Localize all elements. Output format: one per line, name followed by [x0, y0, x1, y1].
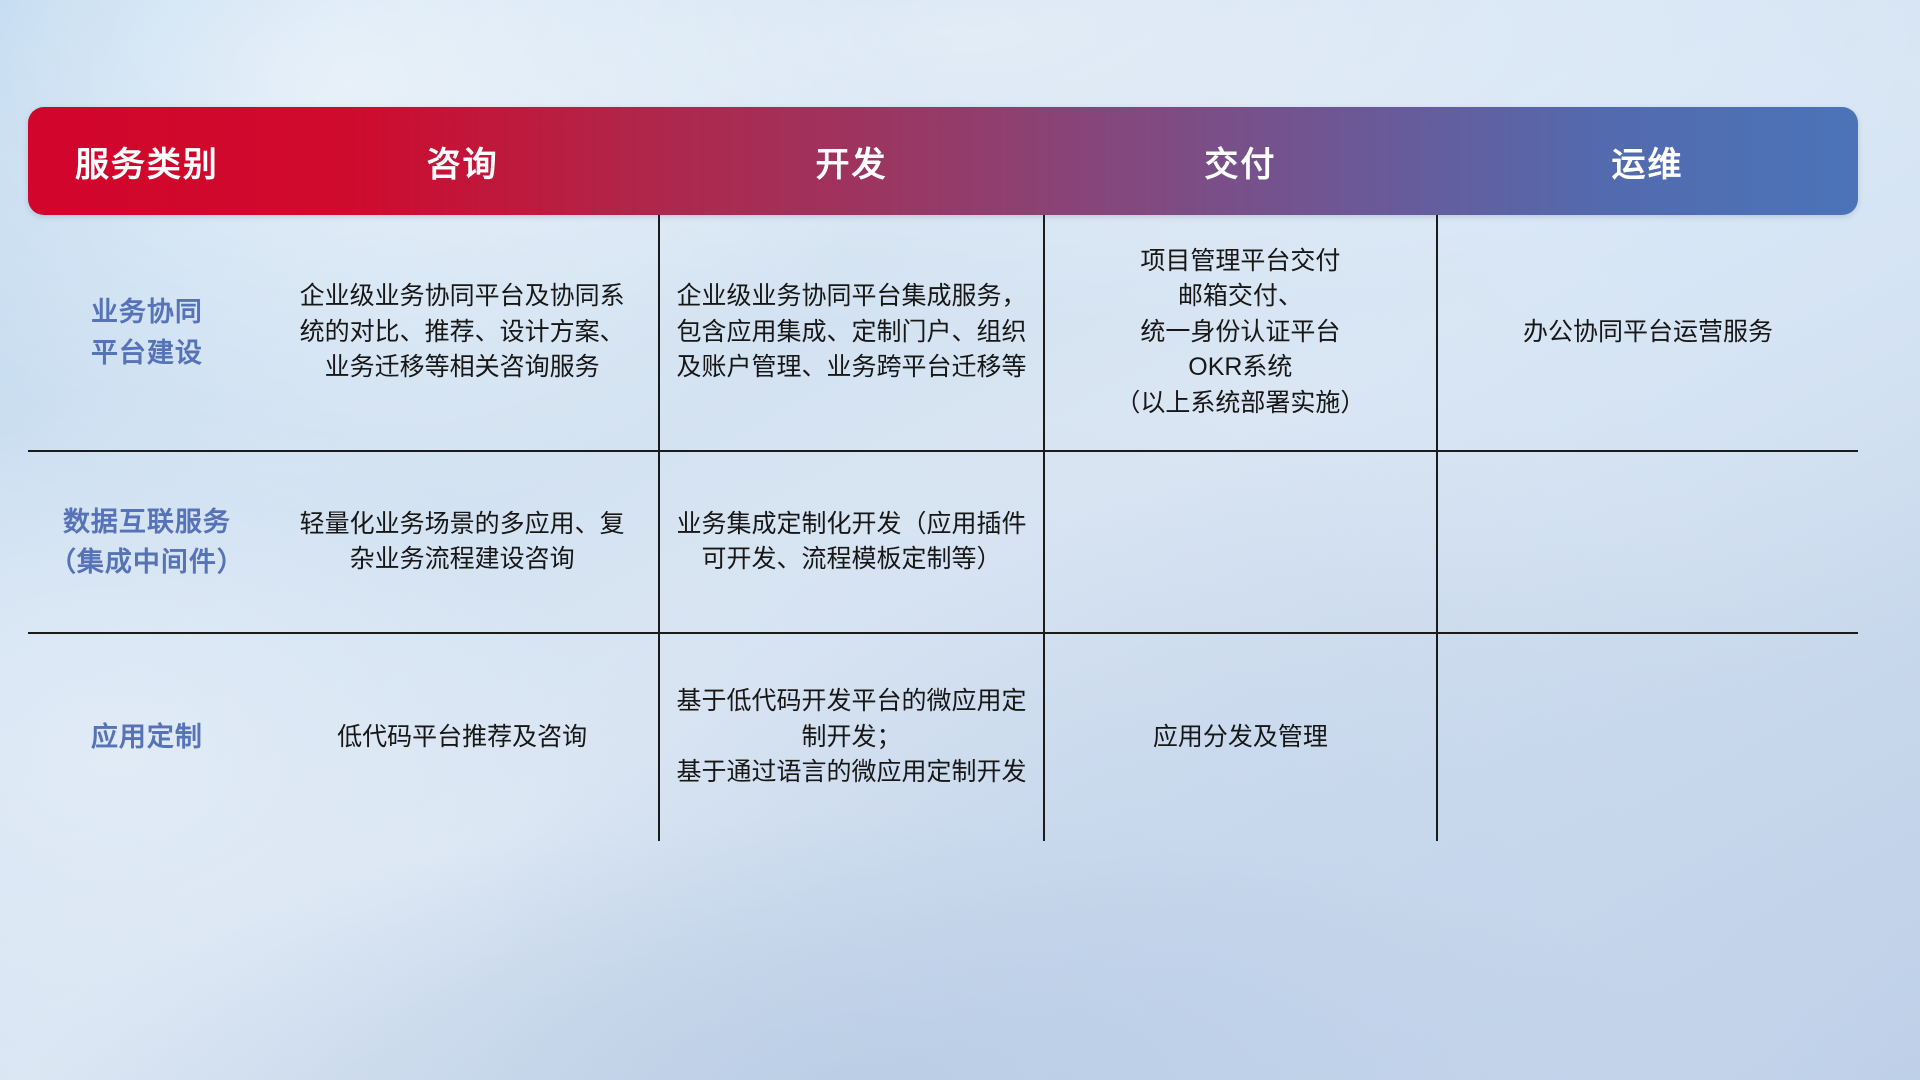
cell-line: 统一身份认证平台	[1061, 315, 1420, 351]
table-header-row: 服务类别 咨询 开发 交付 运维	[28, 107, 1858, 215]
cell-line: 统的对比、推荐、设计方案、	[282, 315, 642, 351]
cell-delivery	[1044, 451, 1437, 633]
column-header-label: 运维	[1612, 146, 1684, 184]
cell-line: 企业级业务协同平台集成服务，	[676, 279, 1026, 315]
category-line: 平台建设	[44, 333, 250, 374]
cell-line: 包含应用集成、定制门户、组织	[676, 315, 1026, 351]
cell-line: 及账户管理、业务跨平台迁移等	[676, 350, 1026, 386]
service-matrix-table: 服务类别 咨询 开发 交付 运维 业务协同	[28, 107, 1858, 841]
cell-line: 基于低代码开发平台的微应用定	[676, 684, 1026, 720]
cell-delivery: 应用分发及管理	[1044, 633, 1437, 841]
row-category-label: 应用定制	[28, 633, 266, 841]
column-header-service-category: 服务类别	[28, 107, 266, 215]
cell-empty	[1454, 542, 1842, 543]
category-line: 业务协同	[44, 292, 250, 333]
cell-line: 低代码平台推荐及咨询	[282, 720, 642, 756]
service-matrix-table-container: 服务类别 咨询 开发 交付 运维 业务协同	[28, 107, 1858, 947]
cell-development: 基于低代码开发平台的微应用定 制开发； 基于通过语言的微应用定制开发	[659, 633, 1043, 841]
column-header-label: 开发	[815, 146, 887, 184]
row-category-label: 业务协同 平台建设	[28, 215, 266, 451]
column-header-label: 交付	[1204, 146, 1276, 184]
cell-line: 邮箱交付、	[1061, 279, 1420, 315]
cell-line: 业务集成定制化开发（应用插件	[676, 507, 1026, 543]
column-header-consulting: 咨询	[266, 107, 659, 215]
cell-operations	[1437, 451, 1858, 633]
column-header-delivery: 交付	[1044, 107, 1437, 215]
column-header-label: 咨询	[427, 146, 499, 184]
table-body: 业务协同 平台建设 企业级业务协同平台及协同系 统的对比、推荐、设计方案、 业务…	[28, 215, 1858, 841]
row-category-label: 数据互联服务 （集成中间件）	[28, 451, 266, 633]
column-header-operations: 运维	[1437, 107, 1858, 215]
cell-line: 轻量化业务场景的多应用、复	[282, 507, 642, 543]
cell-delivery: 项目管理平台交付 邮箱交付、 统一身份认证平台 OKR系统 （以上系统部署实施）	[1044, 215, 1437, 451]
cell-line: 企业级业务协同平台及协同系	[282, 279, 642, 315]
column-header-development: 开发	[659, 107, 1043, 215]
cell-development: 企业级业务协同平台集成服务， 包含应用集成、定制门户、组织 及账户管理、业务跨平…	[659, 215, 1043, 451]
cell-consulting: 轻量化业务场景的多应用、复 杂业务流程建设咨询	[266, 451, 659, 633]
cell-line: 杂业务流程建设咨询	[282, 542, 642, 578]
table-header: 服务类别 咨询 开发 交付 运维	[28, 107, 1858, 215]
cell-line: 可开发、流程模板定制等）	[676, 542, 1026, 578]
cell-line: 办公协同平台运营服务	[1454, 315, 1842, 351]
cell-line: 项目管理平台交付	[1061, 244, 1420, 280]
cell-line: （以上系统部署实施）	[1061, 386, 1420, 422]
cell-empty	[1061, 542, 1420, 543]
cell-development: 业务集成定制化开发（应用插件 可开发、流程模板定制等）	[659, 451, 1043, 633]
cell-empty	[1454, 737, 1842, 738]
category-line: （集成中间件）	[44, 542, 250, 583]
cell-consulting: 低代码平台推荐及咨询	[266, 633, 659, 841]
cell-line: 业务迁移等相关咨询服务	[282, 350, 642, 386]
column-header-label: 服务类别	[75, 146, 219, 184]
table-row: 数据互联服务 （集成中间件） 轻量化业务场景的多应用、复 杂业务流程建设咨询 业…	[28, 451, 1858, 633]
cell-consulting: 企业级业务协同平台及协同系 统的对比、推荐、设计方案、 业务迁移等相关咨询服务	[266, 215, 659, 451]
category-line: 应用定制	[44, 717, 250, 758]
category-line: 数据互联服务	[44, 502, 250, 543]
cell-line: 基于通过语言的微应用定制开发	[676, 755, 1026, 791]
cell-operations	[1437, 633, 1858, 841]
cell-line: OKR系统	[1061, 350, 1420, 386]
table-row: 应用定制 低代码平台推荐及咨询 基于低代码开发平台的微应用定 制开发； 基于通过…	[28, 633, 1858, 841]
cell-operations: 办公协同平台运营服务	[1437, 215, 1858, 451]
cell-line: 制开发；	[676, 720, 1026, 756]
table-row: 业务协同 平台建设 企业级业务协同平台及协同系 统的对比、推荐、设计方案、 业务…	[28, 215, 1858, 451]
cell-line: 应用分发及管理	[1061, 720, 1420, 756]
